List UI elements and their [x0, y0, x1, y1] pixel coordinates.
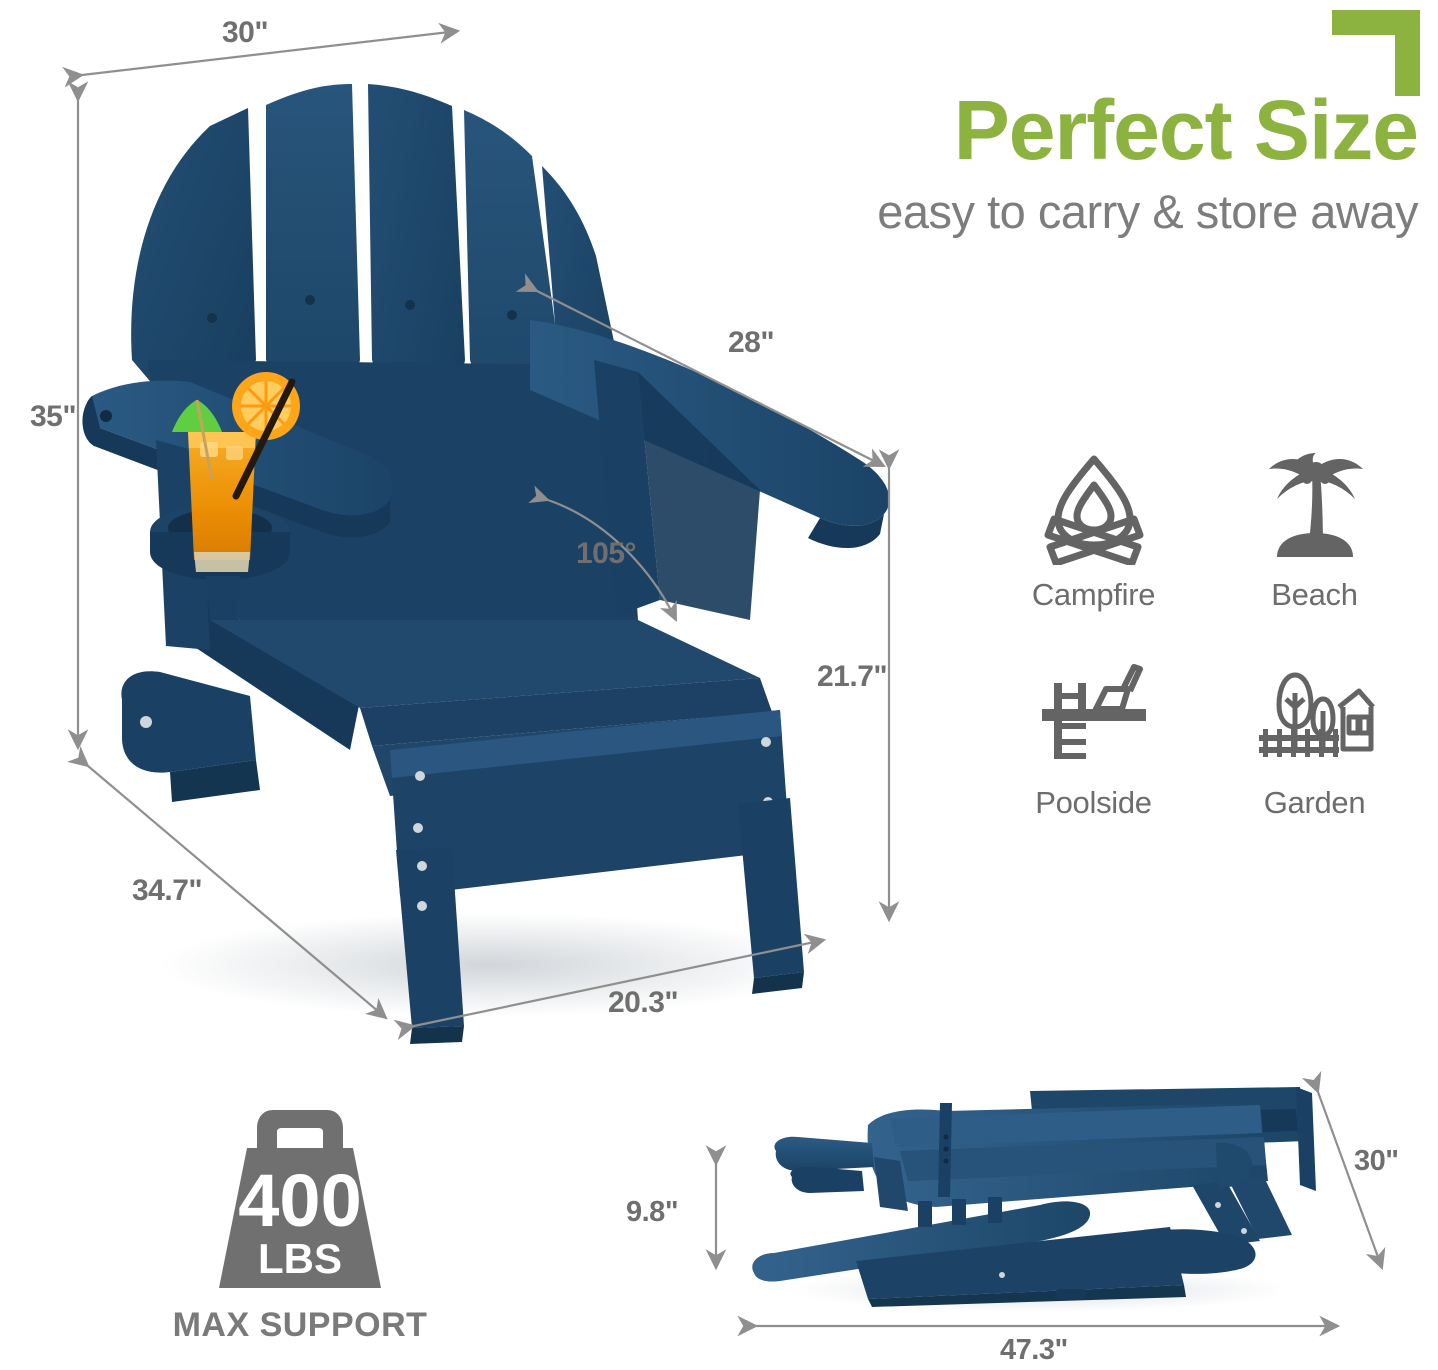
feature-label: Campfire [1032, 577, 1155, 613]
feature-beach[interactable]: Beach [1209, 445, 1420, 637]
dim-label-30: 30" [222, 16, 268, 50]
dim-label-folded-30: 30" [1354, 1145, 1399, 1178]
infographic-canvas: Perfect Size easy to carry & store away [0, 0, 1438, 1370]
dim-label-9-8: 9.8" [626, 1196, 678, 1229]
feature-poolside[interactable]: Poolside [988, 653, 1199, 845]
feature-grid: Campfire Beach [988, 445, 1420, 845]
feature-garden[interactable]: Garden [1209, 653, 1420, 845]
max-support-badge: 400 LBS MAX SUPPORT [150, 1098, 450, 1345]
dim-label-47-3: 47.3" [1000, 1334, 1068, 1367]
garden-icon [1255, 653, 1375, 773]
dim-label-105: 105° [576, 537, 636, 571]
feature-campfire[interactable]: Campfire [988, 445, 1199, 637]
feature-label: Garden [1264, 785, 1366, 821]
campfire-icon [1034, 445, 1154, 565]
dim-line-folded-30 [1318, 1092, 1382, 1268]
feature-label: Poolside [1035, 785, 1152, 821]
weight-unit: LBS [258, 1235, 342, 1282]
dim-label-28: 28" [728, 326, 774, 360]
dim-label-21-7: 21.7" [817, 660, 887, 694]
max-support-caption: MAX SUPPORT [150, 1306, 450, 1345]
dim-label-34-7: 34.7" [132, 874, 202, 908]
poolside-icon [1034, 653, 1154, 773]
folded-chair-illustration [740, 1085, 1320, 1315]
weight-value: 400 [238, 1159, 361, 1242]
palm-tree-icon [1255, 445, 1375, 565]
dim-label-20-3: 20.3" [608, 986, 678, 1020]
feature-label: Beach [1271, 577, 1357, 613]
dim-label-35: 35" [30, 400, 76, 434]
weight-icon: 400 LBS [185, 1098, 415, 1298]
